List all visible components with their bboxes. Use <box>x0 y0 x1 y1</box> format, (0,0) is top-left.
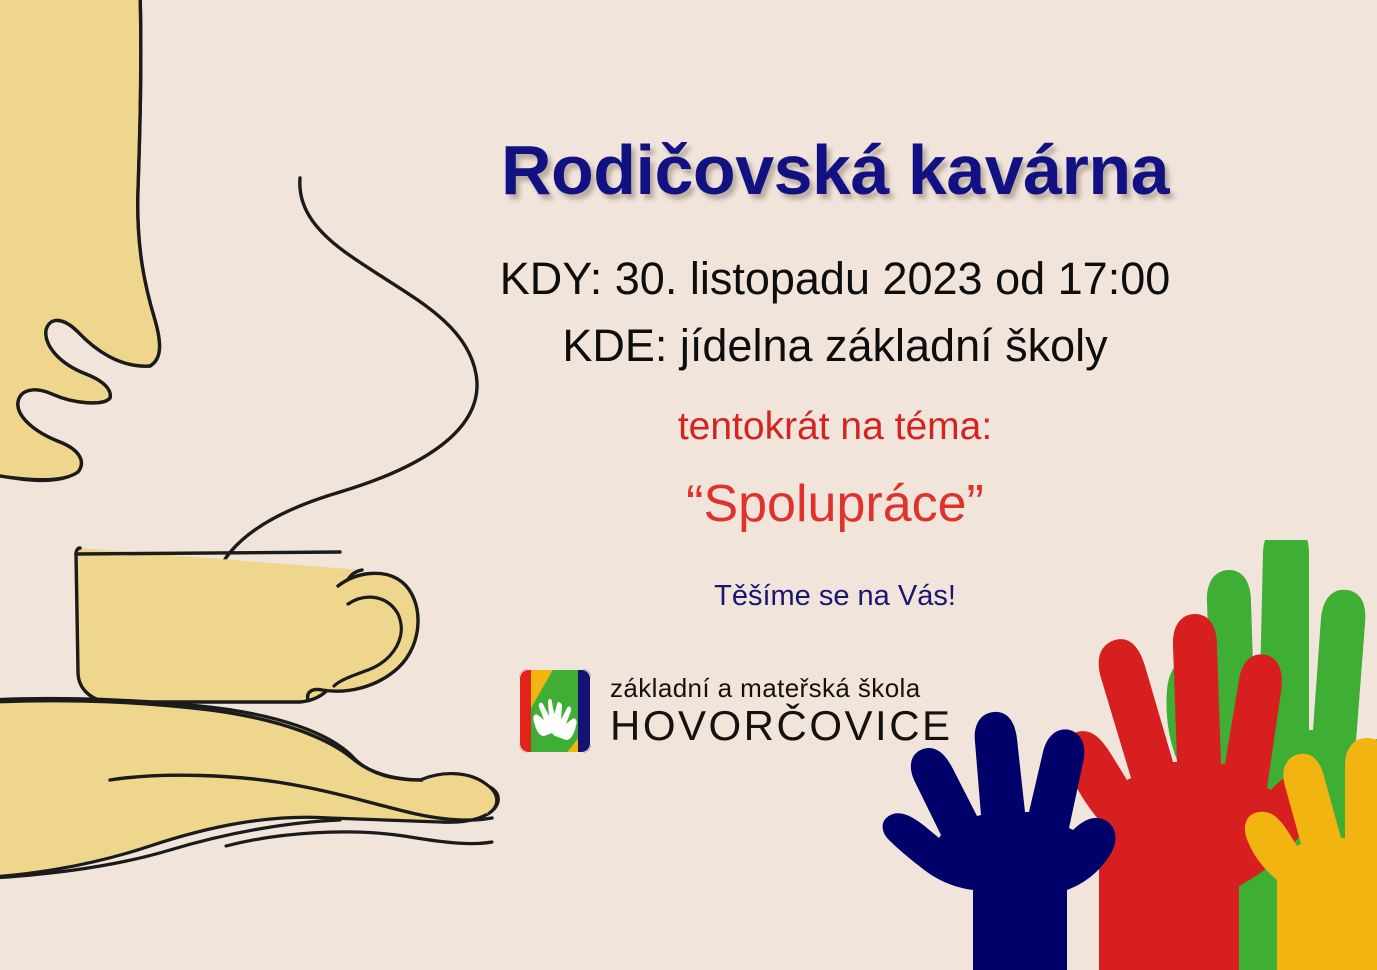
topic-intro-line: tentokrát na téma: <box>440 407 1230 446</box>
school-logo-subtitle: základní a mateřská škola <box>610 675 921 701</box>
event-where-line: KDE: jídelna základní školy <box>440 323 1230 368</box>
school-logo: základní a mateřská škola HOVORČOVICE <box>518 668 953 754</box>
saucer-and-hand <box>0 699 498 880</box>
school-logo-mark-icon <box>518 668 592 754</box>
hand-yellow <box>1245 738 1377 970</box>
school-logo-name: HOVORČOVICE <box>610 705 953 747</box>
face-profile-shape <box>0 0 160 481</box>
steam-curve <box>216 178 477 576</box>
event-when-line: KDY: 30. listopadu 2023 od 17:00 <box>440 256 1230 301</box>
page-title: Rodičovská kavárna <box>440 135 1230 205</box>
topic-title: “Spolupráce” <box>440 478 1230 530</box>
coffee-cup <box>76 548 418 702</box>
poster-content: Rodičovská kavárna KDY: 30. listopadu 20… <box>440 0 1230 970</box>
closing-line: Těšíme se na Vás! <box>440 582 1230 611</box>
poster-canvas: Rodičovská kavárna KDY: 30. listopadu 20… <box>0 0 1377 970</box>
school-logo-text: základní a mateřská škola HOVORČOVICE <box>610 675 953 747</box>
